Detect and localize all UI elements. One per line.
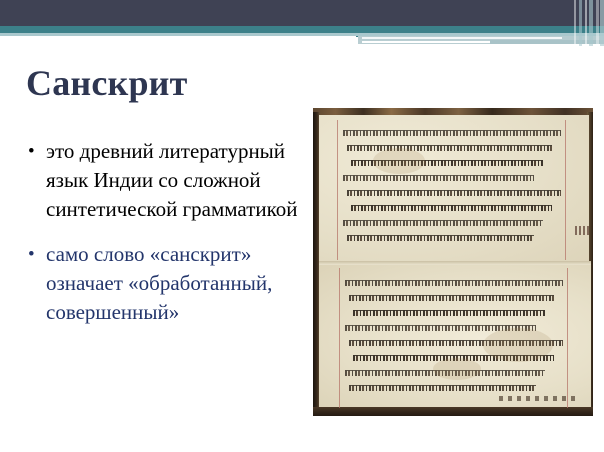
header-navy-bar	[0, 0, 604, 26]
list-item: • это древний литературный язык Индии со…	[28, 137, 310, 224]
slide: Санскрит • это древний литературный язык…	[0, 0, 604, 452]
manuscript-footer-mark	[499, 396, 579, 401]
manuscript-text-line	[351, 205, 552, 211]
header-vertical-stripe-6	[600, 0, 604, 46]
sanskrit-manuscript-photo	[313, 108, 593, 416]
manuscript-text-line	[343, 175, 534, 181]
manuscript-text-line	[349, 385, 536, 391]
manuscript-text-line	[343, 130, 561, 136]
header-white-gap-2	[362, 41, 492, 43]
header-vertical-stripe-5	[596, 0, 599, 46]
slide-title: Санскрит	[26, 63, 188, 103]
manuscript-stain	[483, 328, 553, 362]
manuscript-text-line	[347, 235, 534, 241]
header-vertical-stripe-4	[589, 0, 593, 46]
manuscript-margin-annotation	[575, 226, 591, 235]
manuscript-text-line	[349, 295, 554, 301]
slide-body-bullet-list: • это древний литературный язык Индии со…	[28, 137, 310, 327]
list-item: • само слово «санскрит» означает «обрабо…	[28, 240, 310, 327]
header-vertical-stripe-2	[579, 0, 582, 46]
manuscript-stain	[433, 358, 481, 380]
manuscript-text-line	[345, 280, 563, 286]
bullet-marker-icon: •	[28, 240, 46, 269]
bullet-text-2: само слово «санскрит» означает «обработа…	[46, 240, 310, 327]
header-vertical-stripe-1	[574, 0, 576, 46]
manuscript-text-line	[343, 220, 543, 226]
manuscript-text-line	[353, 310, 545, 316]
manuscript-text-line	[347, 190, 561, 196]
bullet-marker-icon: •	[28, 137, 46, 166]
header-decoration-band	[0, 0, 604, 46]
manuscript-stain	[373, 148, 425, 174]
header-white-gap-1	[362, 37, 562, 39]
bullet-text-1: это древний литературный язык Индии со с…	[46, 137, 310, 224]
manuscript-text-line	[347, 145, 552, 151]
header-vertical-stripe-3	[585, 0, 587, 46]
